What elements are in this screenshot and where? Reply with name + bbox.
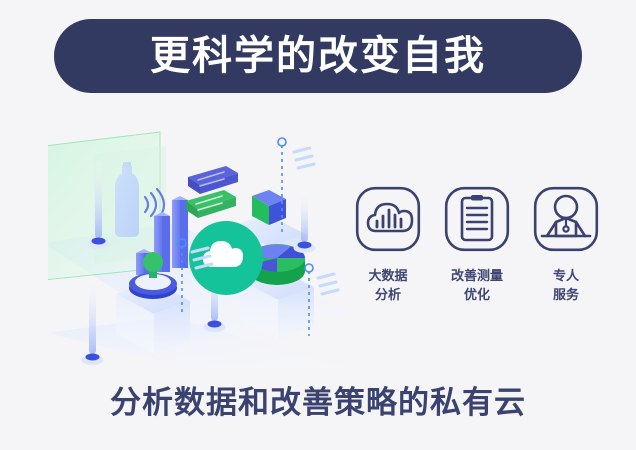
tag-card-green xyxy=(186,190,236,218)
feature-item-big-data[interactable]: 大数据 分析 xyxy=(348,186,428,305)
page-caption: 分析数据和改善策略的私有云 xyxy=(0,384,636,421)
feature-list: 大数据 分析 改善测量 优化 xyxy=(348,186,606,326)
headline-banner: 更科学的改变自我 xyxy=(54,19,582,93)
banner-region: 更科学的改变自我 xyxy=(0,0,636,120)
hero-illustration xyxy=(48,128,348,368)
feature-item-support[interactable]: 专人 服务 xyxy=(526,186,606,305)
feature-label-big-data: 大数据 分析 xyxy=(368,267,407,305)
tag-card-blue xyxy=(188,166,238,194)
headline-text: 更科学的改变自我 xyxy=(150,36,486,76)
feature-label-measurement: 改善测量 优化 xyxy=(451,267,503,305)
support-agent-icon xyxy=(533,186,599,252)
feature-label-support: 专人 服务 xyxy=(553,267,579,305)
cloud-bar-chart-icon xyxy=(355,186,421,252)
feature-item-measurement[interactable]: 改善测量 优化 xyxy=(437,186,517,305)
clipboard-lines-icon xyxy=(444,186,510,252)
